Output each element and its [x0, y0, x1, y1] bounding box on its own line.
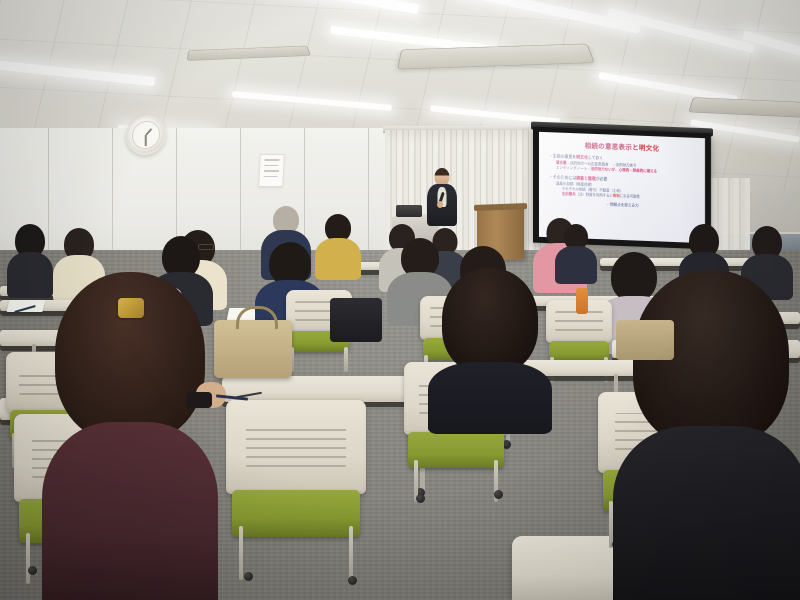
chair[interactable] [226, 400, 366, 580]
chair-caster [244, 572, 253, 581]
lectern-top [474, 203, 527, 211]
chair-back [226, 400, 366, 494]
audience-member [556, 224, 596, 280]
bag [330, 298, 382, 342]
paper [7, 300, 46, 312]
chair-caster [494, 490, 503, 499]
audience-member [44, 272, 216, 600]
presenter-hand [437, 201, 443, 208]
slide-footer: → 問題点を捉える力 [547, 200, 697, 211]
chair-caster [28, 566, 37, 575]
wrist-cuff [186, 392, 212, 408]
presenter [424, 168, 460, 224]
clock-minute-hand [145, 135, 147, 146]
slide-title: 相続の意思表示と明文化 [547, 139, 697, 154]
projector-unit [396, 205, 422, 217]
seminar-room-photo: 相続の意思表示と明文化 ・生前の意思を明文化しておく 遺言書…法的効力～公正証書… [0, 0, 800, 600]
torso [428, 362, 552, 434]
chair-legs [234, 526, 357, 580]
bag [616, 320, 674, 360]
head [442, 268, 538, 374]
chair-legs [290, 347, 348, 372]
chair-caster [416, 494, 425, 503]
audience-member [430, 268, 550, 418]
posted-notice [258, 154, 285, 187]
drink-bottle [576, 288, 588, 314]
chair-caster [348, 576, 357, 585]
torso [42, 422, 218, 600]
torso [555, 246, 597, 284]
bag-handle [236, 306, 278, 329]
hair-clip [118, 298, 144, 318]
torso [613, 426, 800, 600]
